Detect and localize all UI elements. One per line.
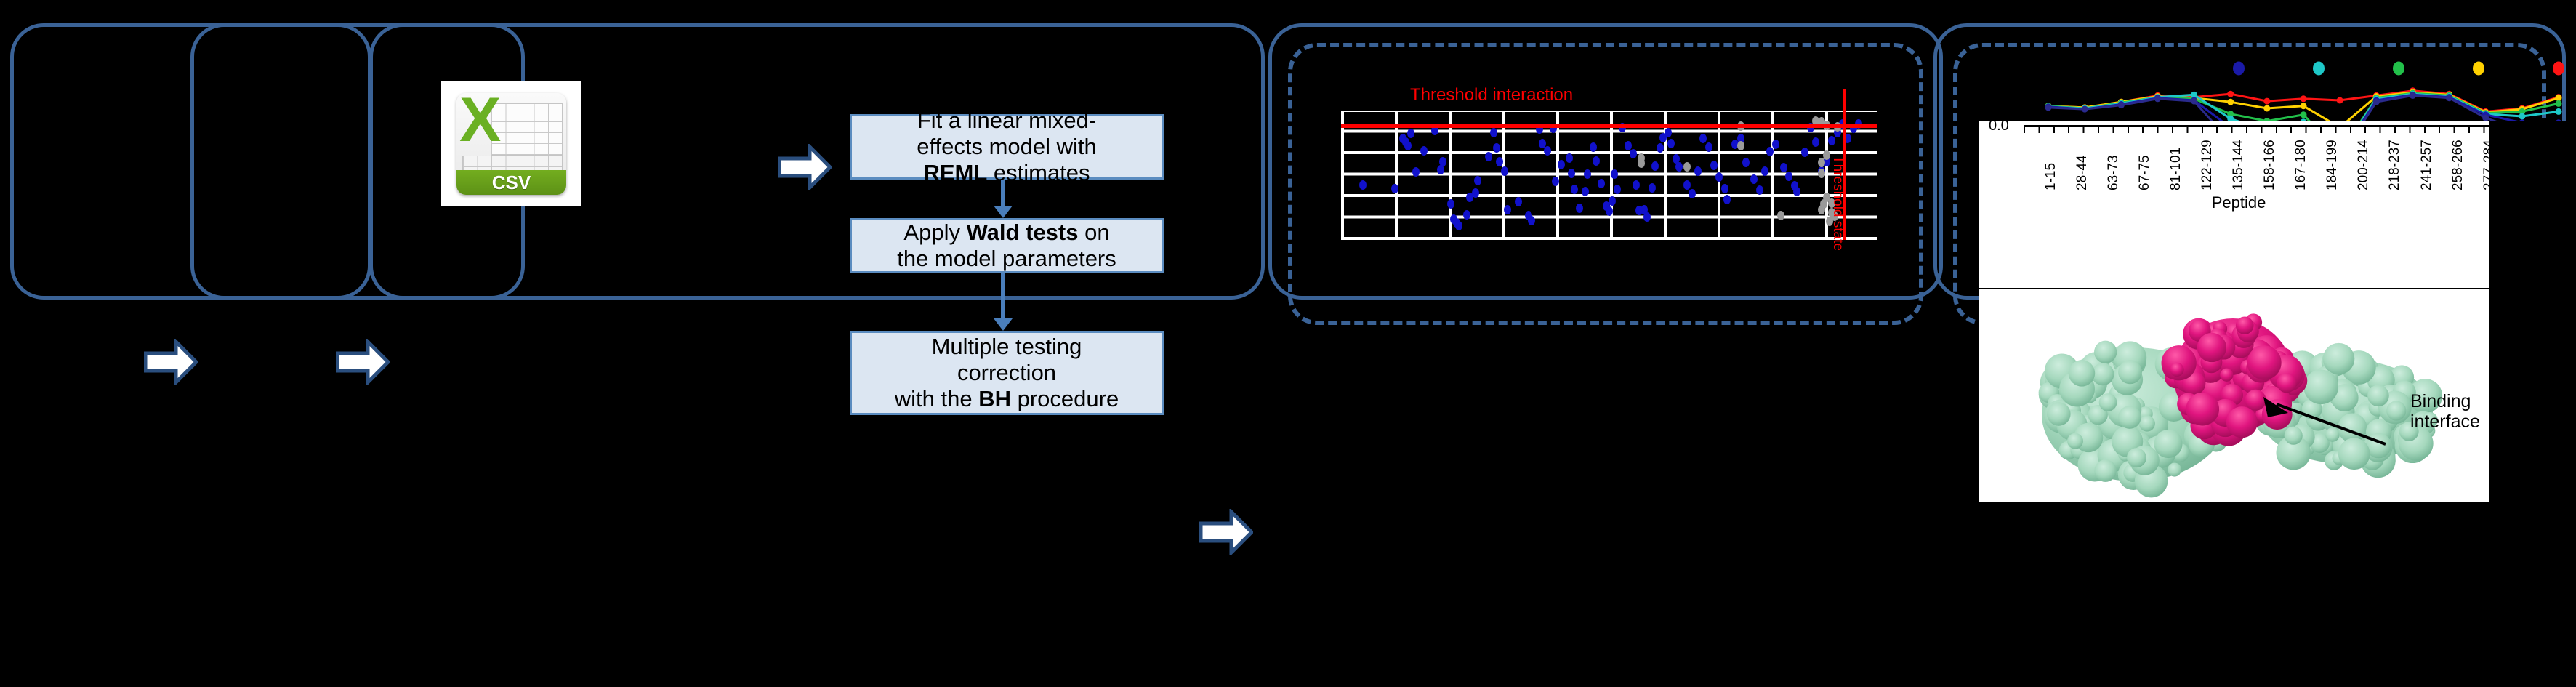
binding-interface-label: Binding interface <box>2410 391 2496 432</box>
peptide-tick-label: 218-237 <box>2387 140 2403 190</box>
peptide-legend-dot <box>2233 62 2245 76</box>
scatter-point <box>1439 157 1446 166</box>
x-axis-title: Peptide <box>1979 193 2499 212</box>
right-block-arrow-4 <box>1199 509 1253 555</box>
peptide-tick-label: 158-166 <box>2262 140 2278 190</box>
peptide-series-point <box>2556 95 2562 101</box>
scatter-point <box>1705 142 1712 152</box>
step-box-bh[interactable]: Multiple testingcorrectionwith the BH pr… <box>850 331 1164 415</box>
protein-surface-blob <box>2277 373 2296 393</box>
scatter-point <box>1437 165 1444 174</box>
binding-label-line-1: Binding <box>2410 391 2496 411</box>
scatter-point <box>1651 161 1659 171</box>
protein-surface-blob <box>2094 341 2117 363</box>
step-1-label: Fit a linear mixed-effects model withREM… <box>917 108 1097 187</box>
scatter-point <box>1609 196 1616 206</box>
scatter-plot-area: Threshold state <box>1341 111 1877 240</box>
workflow-diagram: X CSV Fit a linear mixed-effects model w… <box>0 0 2576 687</box>
scatter-point <box>1756 185 1763 195</box>
threshold-state-label: Threshold state <box>1830 156 1846 251</box>
scatter-point <box>1558 160 1565 169</box>
scatter-point <box>1742 158 1750 167</box>
peptide-series-point <box>2118 102 2125 108</box>
peptide-series-point <box>2154 95 2161 102</box>
scatter-point <box>1359 180 1367 190</box>
peptide-series-point <box>2191 98 2197 105</box>
peptide-tick-label: 200-214 <box>2356 140 2372 190</box>
protein-surface-blob <box>2247 345 2281 379</box>
peptide-series-point <box>2301 103 2307 109</box>
protein-surface-blob <box>2220 369 2233 382</box>
excel-x-icon: X <box>459 93 498 151</box>
protein-surface-blob <box>2386 401 2406 420</box>
scatter-point <box>1675 162 1683 172</box>
scatter-point <box>1504 205 1511 214</box>
peptide-axis-card: 0.0 1-1528-4463-7367-7581-101122-129135-… <box>1979 121 2499 288</box>
peptide-series-point <box>2263 105 2270 112</box>
peptide-legend-dot <box>2553 62 2564 76</box>
peptide-series-point <box>2519 113 2525 120</box>
scatter-point <box>1667 139 1675 148</box>
peptide-series-point <box>2227 99 2234 105</box>
x-axis-tick-labels: 1-1528-4463-7367-7581-101122-129135-1441… <box>2024 134 2493 192</box>
arrow-shaft <box>1001 180 1005 206</box>
volcano-scatter-chart: Threshold interaction Threshold state <box>1341 87 1893 240</box>
scatter-point <box>1683 180 1691 190</box>
scatter-point <box>1665 128 1672 137</box>
protein-surface-blob <box>2067 433 2083 449</box>
scatter-point <box>1472 188 1479 198</box>
scatter-point <box>1818 205 1825 214</box>
y-axis-tick-label: 0.0 <box>1989 121 2009 134</box>
scatter-point <box>1571 185 1578 194</box>
peptide-tick-label: 122-129 <box>2199 140 2215 190</box>
protein-surface-blob <box>2099 393 2117 411</box>
scatter-point <box>1772 140 1779 149</box>
peptide-series-point <box>2373 99 2380 105</box>
protein-surface-blob <box>2197 333 2226 362</box>
right-block-arrow-3 <box>778 144 832 190</box>
peptide-tick-label: 81-101 <box>2168 148 2184 190</box>
peptide-legend-dot <box>2313 62 2325 76</box>
protein-surface-blob <box>2338 438 2370 470</box>
peptide-series-point <box>2191 92 2197 98</box>
scatter-point <box>1737 141 1744 150</box>
protein-surface-blob <box>2367 385 2389 407</box>
peptide-series-point <box>2045 104 2052 111</box>
scatter-point <box>1598 179 1605 188</box>
protein-surface-blob <box>2069 360 2095 386</box>
right-block-arrow-2 <box>336 339 390 385</box>
card-right-mask <box>2489 121 2576 289</box>
peptide-series-point <box>2082 106 2088 113</box>
scatter-point <box>1818 169 1825 178</box>
scatter-point <box>1593 156 1600 166</box>
scatter-point <box>1657 143 1664 153</box>
scatter-point <box>1515 197 1522 206</box>
binding-label-line-2: interface <box>2410 411 2496 432</box>
peptide-series-point <box>2263 98 2270 105</box>
arrow-shaft <box>1001 273 1005 318</box>
scatter-point <box>1582 187 1589 196</box>
scatter-point <box>1780 163 1787 172</box>
protein-surface-blob <box>2092 363 2114 385</box>
peptide-series-point <box>2556 108 2562 115</box>
threshold-interaction-label: Threshold interaction <box>1410 85 1573 105</box>
protein-surface-blob <box>2094 459 2117 482</box>
peptide-series-point <box>2227 91 2234 97</box>
peptide-series-point <box>2556 100 2562 107</box>
peptide-legend-dot <box>2473 62 2484 76</box>
peptide-legend-dot <box>2393 62 2404 76</box>
scatter-point <box>1710 161 1718 170</box>
protein-surface-blob <box>2170 363 2183 377</box>
protein-surface-blob <box>2047 402 2071 426</box>
step-2-label: Apply Wald tests onthe model parameters <box>897 220 1116 273</box>
peptide-series-point <box>2301 111 2307 118</box>
protein-surface-blob <box>2186 393 2219 426</box>
step-3-label: Multiple testingcorrectionwith the BH pr… <box>895 334 1119 413</box>
scatter-point <box>1683 162 1691 172</box>
scatter-point <box>1496 157 1503 166</box>
protein-structure-image: Binding interface <box>1979 289 2499 502</box>
peptide-tick-label: 184-199 <box>2325 140 2340 190</box>
scatter-point <box>1721 184 1728 193</box>
scatter-point <box>1761 166 1768 176</box>
peptide-tick-label: 241-257 <box>2419 140 2435 190</box>
protein-surface-blob <box>2127 448 2146 467</box>
peptide-series-point <box>2410 92 2416 99</box>
protein-surface-blob <box>2323 343 2355 375</box>
right-block-arrow-1 <box>144 339 198 385</box>
protein-surface-blob <box>2118 406 2141 429</box>
scatter-point <box>1643 212 1651 222</box>
peptide-tick-label: 135-144 <box>2231 140 2247 190</box>
protein-surface-blob <box>2325 427 2340 442</box>
scatter-point <box>1391 184 1398 193</box>
scatter-point <box>1818 158 1825 167</box>
scatter-point <box>1750 174 1758 184</box>
scatter-point <box>1501 166 1508 176</box>
protein-surface-blob <box>2118 360 2142 384</box>
protein-surface-blob <box>2226 406 2258 438</box>
scatter-point <box>1614 185 1621 194</box>
scatter-point <box>1566 153 1573 163</box>
step-box-wald[interactable]: Apply Wald tests onthe model parameters <box>850 218 1164 273</box>
scatter-point <box>1694 166 1702 176</box>
arrow-head <box>994 206 1013 218</box>
scatter-point <box>1590 142 1597 152</box>
scatter-gridlines <box>1341 112 1877 240</box>
peptide-series-point <box>2301 95 2307 102</box>
protein-surface-blob <box>2236 316 2254 334</box>
scatter-point <box>1699 134 1707 143</box>
scatter-point <box>1528 216 1535 225</box>
peptide-tick-label: 258-266 <box>2450 140 2466 190</box>
scatter-point <box>1490 128 1497 137</box>
protein-surface-blob <box>2285 427 2303 445</box>
scatter-point <box>1777 211 1784 220</box>
protein-surface-blob <box>2245 390 2266 411</box>
peptide-tick-label: 1-15 <box>2043 163 2059 190</box>
step-box-reml[interactable]: Fit a linear mixed-effects model withREM… <box>850 114 1164 180</box>
scatter-point <box>1493 143 1500 153</box>
protein-surface-blob <box>2303 369 2338 404</box>
scatter-point <box>1633 180 1640 190</box>
x-axis-ticks <box>2024 125 2493 133</box>
protein-surface-blob <box>2154 430 2182 458</box>
arrow-head <box>994 318 1013 331</box>
protein-right-mask <box>2489 289 2576 502</box>
peptide-tick-label: 63-73 <box>2106 155 2122 190</box>
peptide-series-point <box>2337 97 2343 104</box>
peptide-series-point <box>2446 95 2452 101</box>
peptide-tick-label: 167-180 <box>2293 140 2309 190</box>
peptide-tick-label: 28-44 <box>2074 155 2090 190</box>
peptide-tick-label: 67-75 <box>2137 155 2153 190</box>
protein-surface-blob <box>2139 415 2155 431</box>
horizontal-threshold-line <box>1341 124 1877 128</box>
